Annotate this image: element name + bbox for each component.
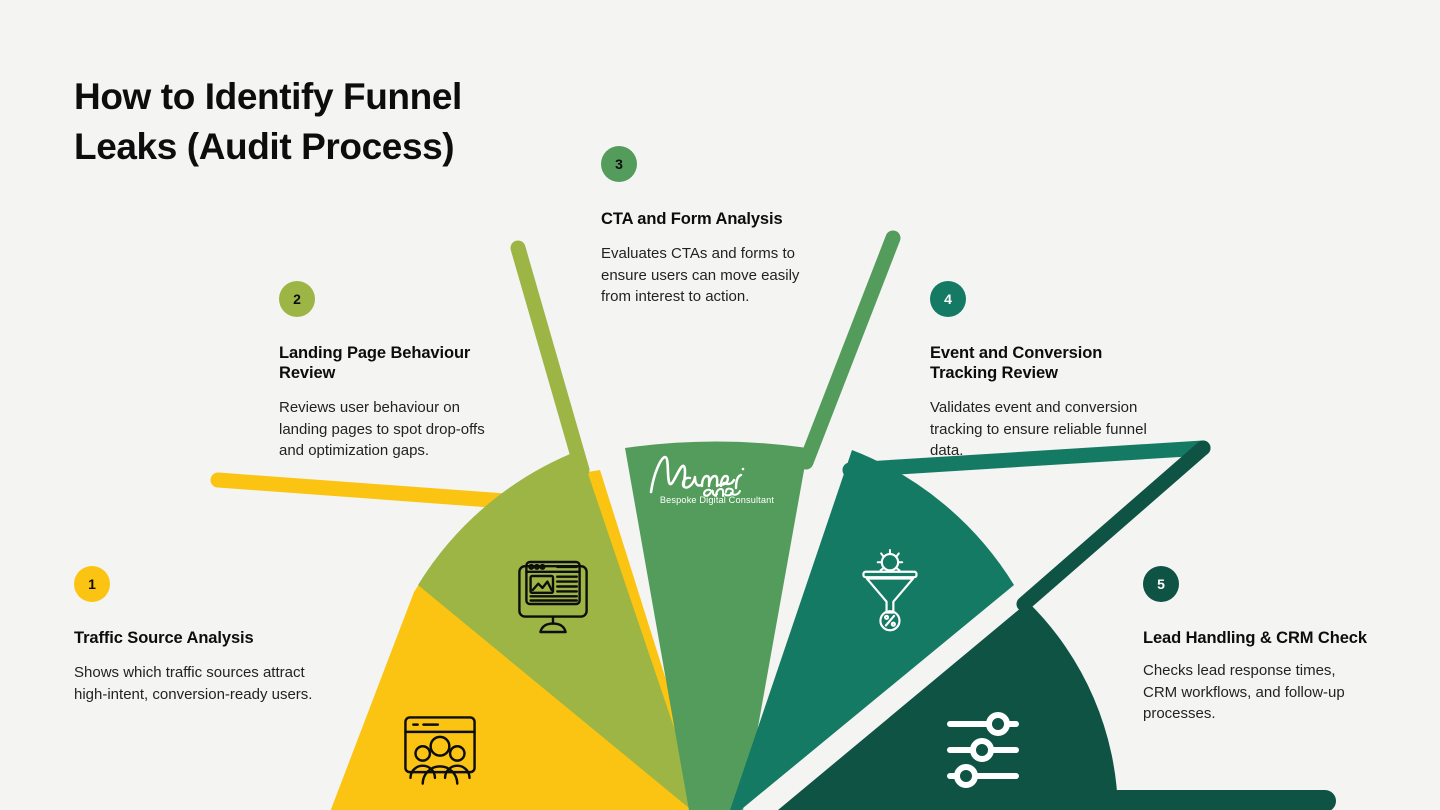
step-title-5: Lead Handling & CRM Check (1143, 628, 1373, 648)
step-title-3: CTA and Form Analysis (601, 209, 826, 229)
step-item-traffic-source-analysis[interactable]: 1 Traffic Source Analysis Shows which tr… (74, 566, 324, 705)
wedge-2-leader-line (518, 248, 582, 470)
step-badge-number-5: 5 (1157, 577, 1165, 591)
step-title-2: Landing Page Behaviour Review (279, 343, 511, 383)
step-item-landing-page-behaviour-review[interactable]: 2 Landing Page Behaviour Review Reviews … (279, 281, 511, 462)
step-desc-3: Evaluates CTAs and forms to ensure users… (601, 243, 826, 308)
step-desc-1: Shows which traffic sources attract high… (74, 662, 324, 705)
step-badge-1: 1 (74, 566, 110, 602)
infographic-canvas: How to Identify Funnel Leaks (Audit Proc… (0, 0, 1440, 810)
step-badge-3: 3 (601, 146, 637, 182)
step-badge-number-3: 3 (615, 157, 623, 171)
step-badge-number-1: 1 (88, 577, 96, 591)
step-desc-4: Validates event and conversion tracking … (930, 397, 1162, 462)
step-item-lead-handling-crm-check[interactable]: 5 Lead Handling & CRM Check Checks lead … (1143, 566, 1373, 725)
step-item-event-and-conversion-tracking-review[interactable]: 4 Event and Conversion Tracking Review V… (930, 281, 1162, 462)
step-badge-number-2: 2 (293, 292, 301, 306)
step-desc-2: Reviews user behaviour on landing pages … (279, 397, 511, 462)
step-badge-2: 2 (279, 281, 315, 317)
step-title-4: Event and Conversion Tracking Review (930, 343, 1162, 383)
wedge-5-base-bar (1106, 790, 1336, 810)
step-badge-4: 4 (930, 281, 966, 317)
step-item-cta-and-form-analysis[interactable]: 3 CTA and Form Analysis Evaluates CTAs a… (601, 146, 826, 308)
step-badge-5: 5 (1143, 566, 1179, 602)
sliders-icon (950, 715, 1016, 785)
step-badge-number-4: 4 (944, 292, 952, 306)
step-desc-5: Checks lead response times, CRM workflow… (1143, 660, 1373, 725)
step-title-1: Traffic Source Analysis (74, 628, 324, 648)
